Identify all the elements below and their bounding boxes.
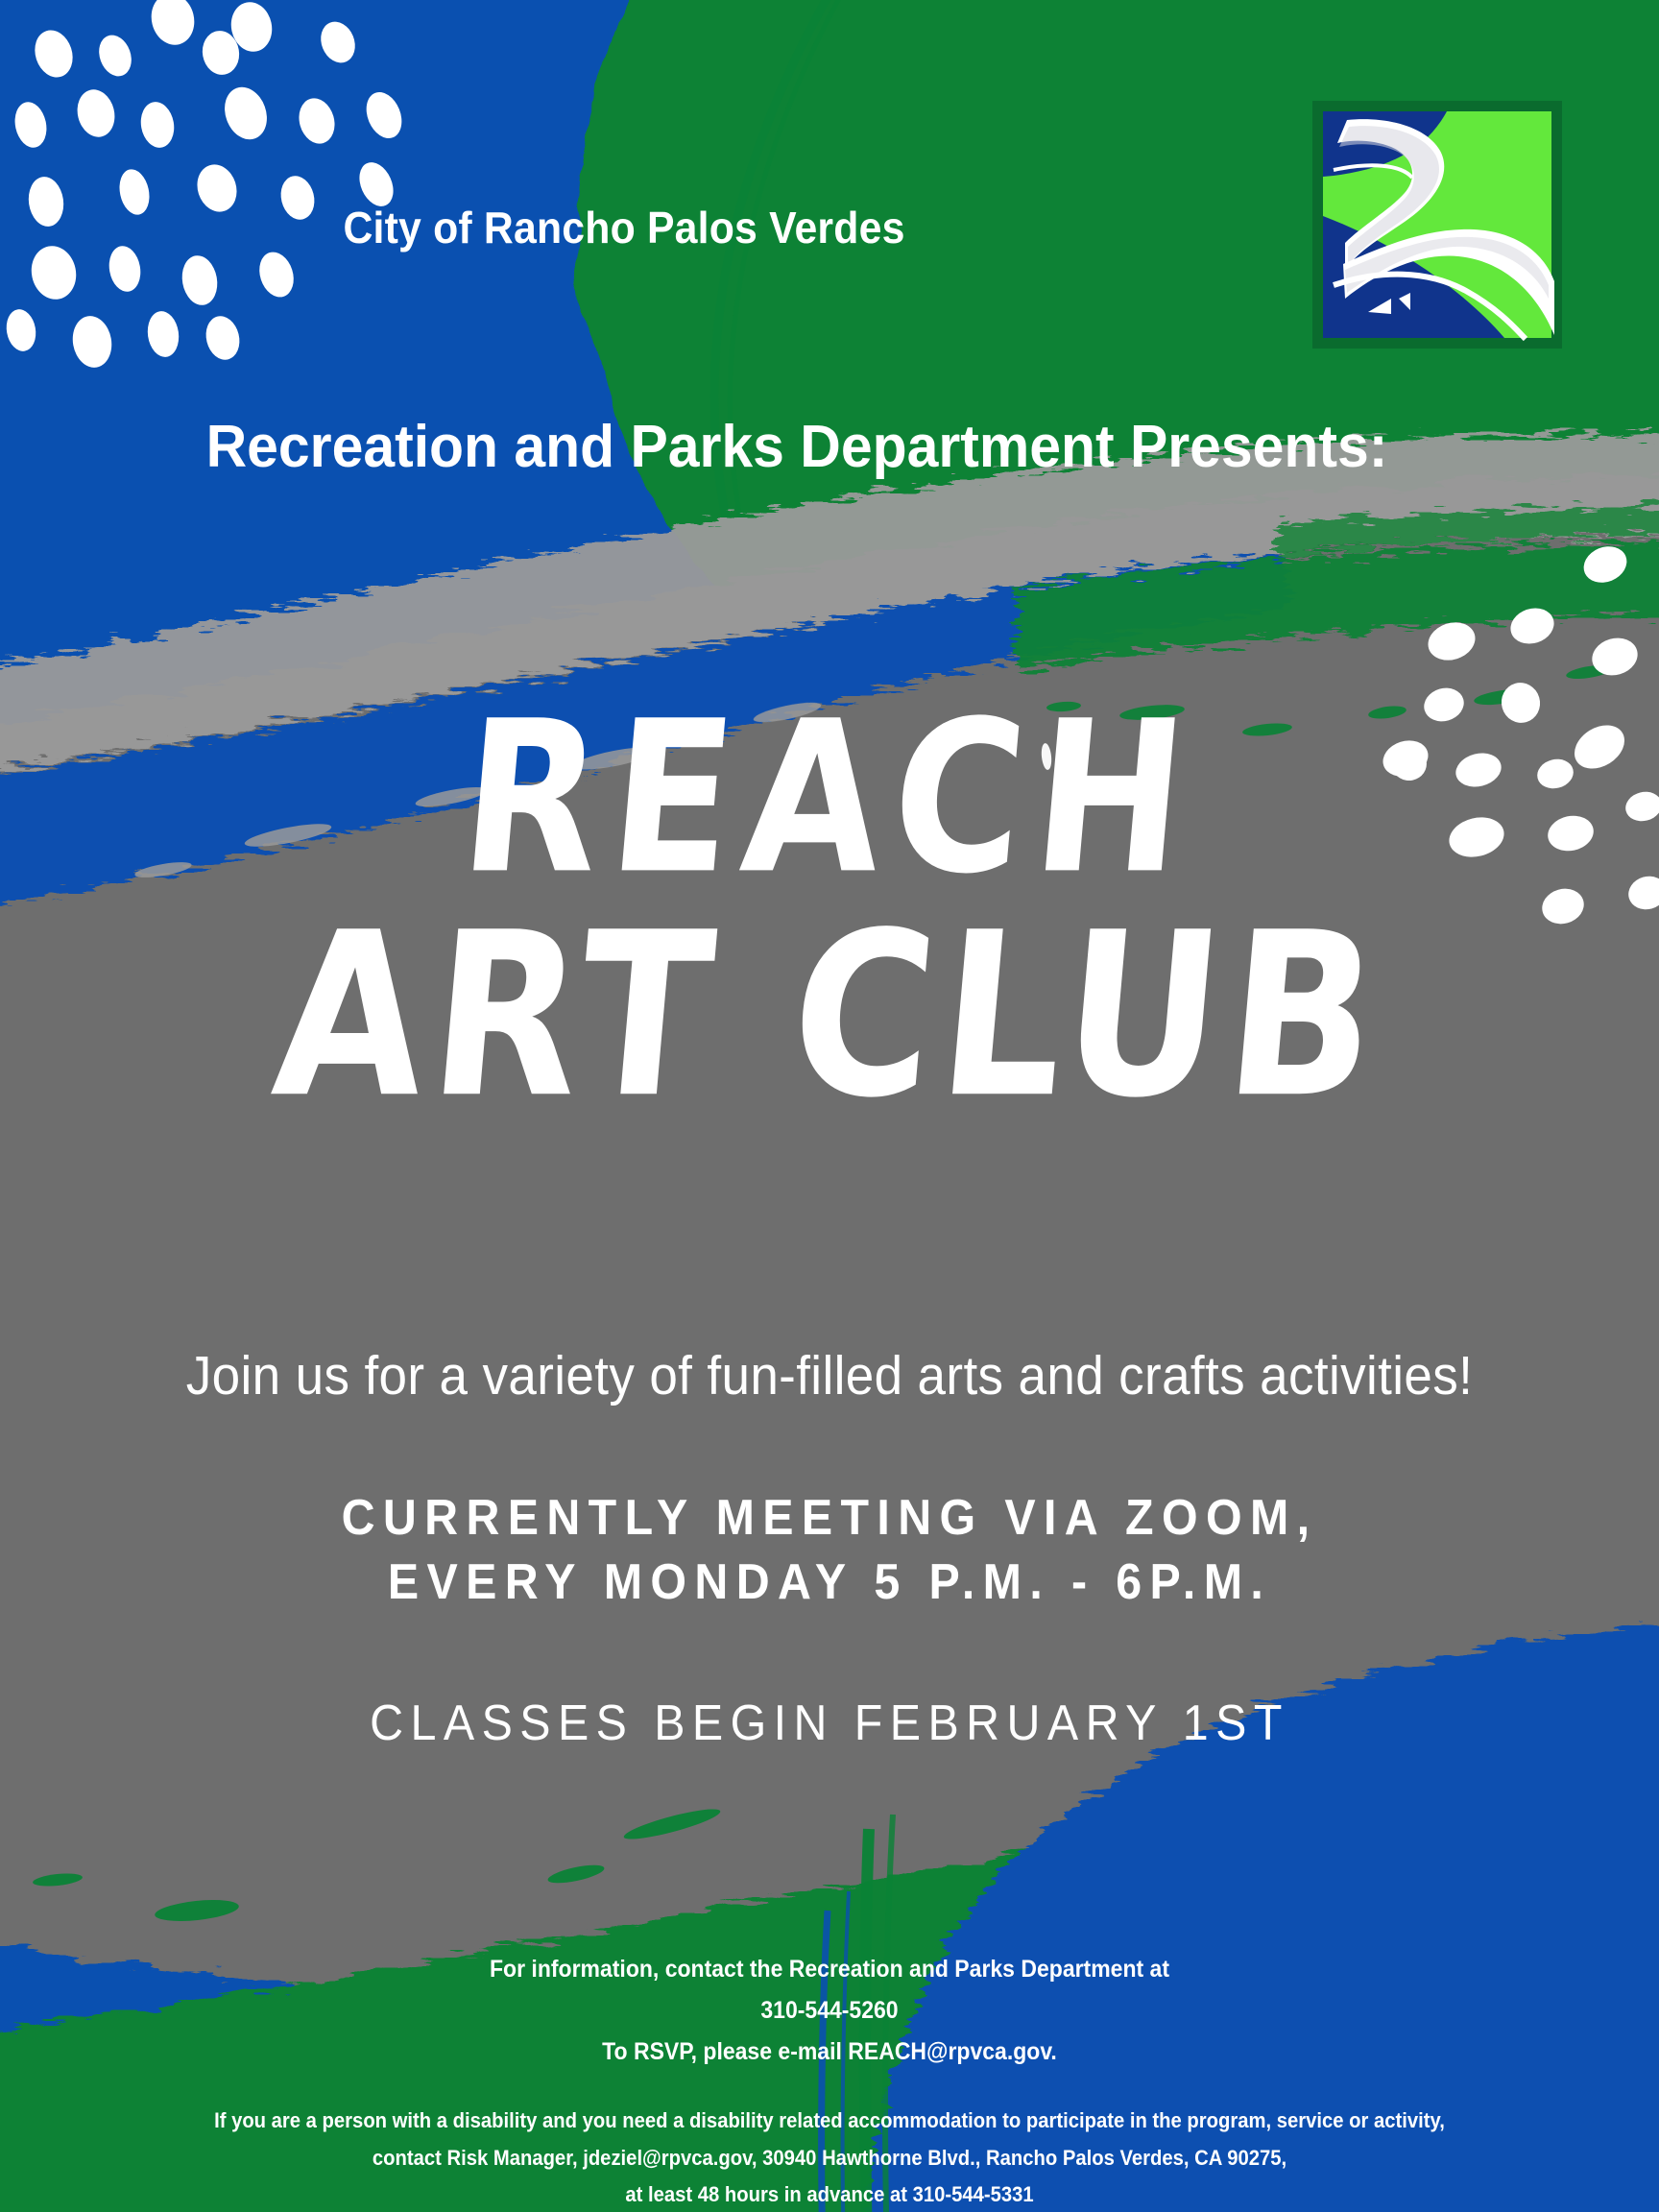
poster-title: REACH ART CLUB bbox=[0, 715, 1659, 1107]
ada-accommodation-notice: If you are a person with a disability an… bbox=[66, 2103, 1593, 2212]
meeting-line-1: CURRENTLY MEETING VIA ZOOM, bbox=[58, 1486, 1600, 1551]
meeting-schedule: CURRENTLY MEETING VIA ZOOM, EVERY MONDAY… bbox=[58, 1486, 1600, 1614]
dot-cluster-top-left bbox=[3, 0, 408, 371]
tagline-text: Join us for a variety of fun-filled arts… bbox=[58, 1344, 1600, 1407]
ada-line-1: If you are a person with a disability an… bbox=[66, 2103, 1593, 2140]
meeting-line-2: EVERY MONDAY 5 P.M. - 6P.M. bbox=[58, 1551, 1600, 1615]
poster-canvas: City of Rancho Palos Verdes Recreation a… bbox=[0, 0, 1659, 2212]
city-logo-mark bbox=[1312, 101, 1562, 349]
city-logo bbox=[1312, 101, 1562, 349]
contact-info: For information, contact the Recreation … bbox=[66, 1949, 1593, 2073]
start-date-text: CLASSES BEGIN FEBRUARY 1ST bbox=[58, 1695, 1600, 1752]
title-line-1: REACH bbox=[0, 700, 1659, 897]
ada-line-3: at least 48 hours in advance at 310-544-… bbox=[66, 2176, 1593, 2212]
city-name-heading: City of Rancho Palos Verdes bbox=[44, 202, 1205, 253]
contact-phone[interactable]: 310-544-5260 bbox=[66, 1990, 1593, 2032]
department-presents-heading: Recreation and Parks Department Presents… bbox=[40, 413, 1554, 481]
contact-line-1: For information, contact the Recreation … bbox=[66, 1949, 1593, 1990]
ada-line-2: contact Risk Manager, jdeziel@rpvca.gov,… bbox=[66, 2140, 1593, 2177]
title-line-2: ART CLUB bbox=[0, 910, 1659, 1123]
contact-email[interactable]: To RSVP, please e-mail REACH@rpvca.gov. bbox=[66, 2032, 1593, 2073]
